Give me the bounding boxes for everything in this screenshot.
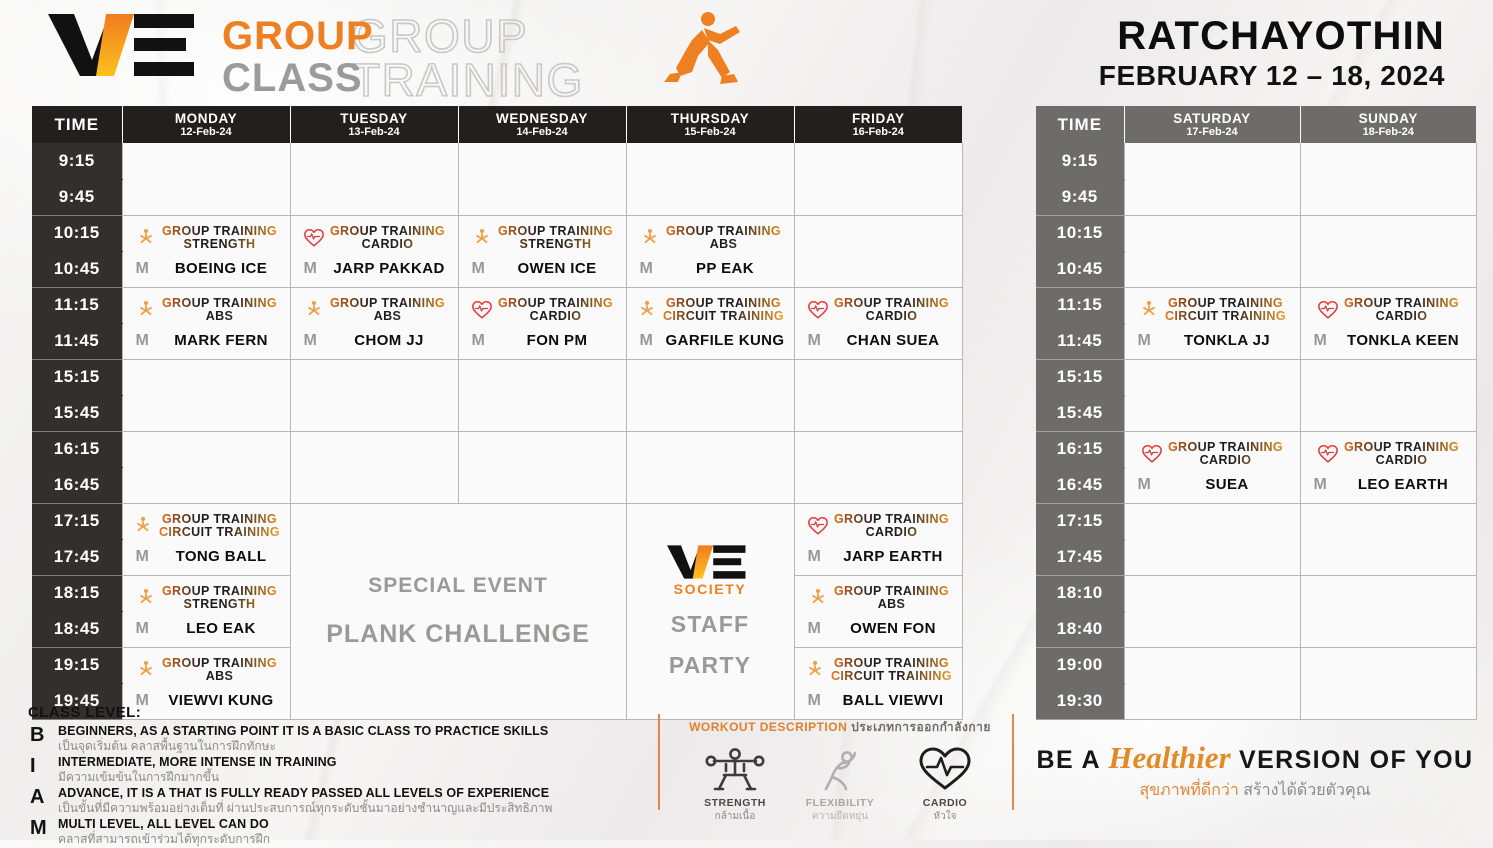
class-slot[interactable]: GROUP TRAININGABSMOWEN FON: [794, 575, 962, 647]
empty-slot: [122, 359, 290, 431]
time-end: 18:40: [1036, 611, 1124, 647]
time-start: 18:10: [1036, 575, 1124, 611]
class-instructors: OWEN ICE: [498, 260, 617, 277]
class-level-badge: M: [808, 620, 834, 638]
time-start: 10:15: [1036, 215, 1124, 251]
class-slot[interactable]: GROUP TRAININGCIRCUIT TRAININGMTONKLA JJ: [1124, 287, 1300, 359]
workout-label-th: กล้ามเนื้อ: [686, 809, 784, 824]
time-start: 16:15: [1036, 431, 1124, 467]
time-start: 11:15: [1036, 287, 1124, 323]
level-letter: I: [28, 755, 58, 777]
empty-slot: [794, 431, 962, 503]
tagline-block: BE A Healthier VERSION OF YOU สุขภาพที่ด…: [1030, 740, 1480, 803]
class-slot[interactable]: GROUP TRAININGCARDIOMSUEA: [1124, 431, 1300, 503]
weekend-schedule-table: TIME SATURDAY 17-Feb-24 SUNDAY 18-Feb-24…: [1036, 106, 1476, 720]
empty-slot: [794, 215, 962, 287]
schedule-row: 11:15GROUP TRAININGABSMMARK FERNGROUP TR…: [32, 287, 962, 323]
strength-figure-icon: [135, 299, 157, 321]
class-level-badge: M: [1138, 476, 1164, 494]
strength-figure-icon: [636, 299, 658, 321]
weekend-header-saturday: SATURDAY 17-Feb-24: [1124, 106, 1300, 143]
level-desc-th: มีความเข้มข้นในการฝึกมากขึ้น: [58, 770, 658, 785]
class-level-badge: M: [640, 260, 666, 278]
we-society-logo: [667, 544, 753, 580]
class-group-label: GROUP TRAINING: [330, 297, 445, 310]
empty-slot: [1124, 359, 1300, 431]
class-slot[interactable]: GROUP TRAININGCARDIOMTONKLA KEEN: [1300, 287, 1476, 359]
strength-figure-icon: [135, 659, 157, 681]
time-start: 19:00: [1036, 647, 1124, 683]
schedule-row: 17:15GROUP TRAININGCIRCUIT TRAININGMTONG…: [32, 503, 962, 539]
class-type-label: ABS: [666, 238, 781, 251]
strength-figure-icon: [807, 587, 829, 609]
class-group-label: GROUP TRAINING: [834, 513, 949, 526]
heart-pulse-icon: [896, 743, 994, 795]
strength-figure-icon: [804, 659, 826, 681]
class-slot[interactable]: GROUP TRAININGABSMCHOM JJ: [290, 287, 458, 359]
stretching-figure-icon: [791, 743, 889, 795]
class-instructors: BOEING ICE: [162, 260, 281, 277]
class-instructors: LEO EAK: [162, 620, 281, 637]
strength-figure-icon: [471, 227, 493, 249]
heart-pulse-icon: [303, 227, 325, 249]
strength-figure-icon: [135, 227, 157, 249]
schedule-row: 15:15: [1036, 359, 1476, 395]
day-name: SATURDAY: [1125, 111, 1300, 126]
heart-pulse-icon: [1317, 299, 1339, 321]
class-type-label: CIRCUIT TRAINING: [663, 310, 784, 323]
class-level-heading: CLASS LEVEL:: [28, 704, 658, 721]
special-event-cell[interactable]: SPECIAL EVENTPLANK CHALLENGE: [290, 503, 626, 719]
heart-pulse-icon: [1317, 443, 1339, 465]
workout-label-en: STRENGTH: [686, 797, 784, 809]
strength-figure-icon: [639, 227, 661, 249]
level-letter: B: [28, 724, 58, 746]
class-instructors: TONG BALL: [162, 548, 281, 565]
class-level-badge: M: [640, 332, 666, 350]
workout-label-th: หัวใจ: [896, 809, 994, 824]
strength-figure-icon: [1138, 299, 1160, 321]
empty-slot: [1300, 503, 1476, 575]
class-level-badge: M: [472, 332, 498, 350]
time-start: 15:15: [1036, 359, 1124, 395]
time-end: 15:45: [32, 395, 122, 431]
weekday-time-header: TIME: [32, 106, 122, 143]
page-header: GROUP TRAINING GROUP CLASS RATCHAYOTHIN …: [0, 0, 1493, 104]
heart-pulse-icon: [1317, 299, 1339, 321]
class-level-badge: M: [136, 332, 162, 350]
venue-block: RATCHAYOTHIN FEBRUARY 12 – 18, 2024: [1099, 14, 1445, 92]
class-instructors: OWEN FON: [834, 620, 953, 637]
workout-description: WORKOUT DESCRIPTION ประเภทการออกกำลังกาย: [680, 718, 1000, 824]
class-slot[interactable]: GROUP TRAININGSTRENGTHMOWEN ICE: [458, 215, 626, 287]
class-group-label: GROUP TRAINING: [831, 657, 952, 670]
heart-pulse-icon: [471, 299, 493, 321]
strength-figure-icon: [471, 227, 493, 249]
time-start: 17:15: [1036, 503, 1124, 539]
staff-party-line2: PARTY: [627, 652, 794, 679]
tagline-th-orange: สุขภาพที่ดีกว่า: [1139, 782, 1238, 799]
level-letter: M: [28, 817, 58, 839]
empty-slot: [1300, 575, 1476, 647]
class-instructors: JARP EARTH: [834, 548, 953, 565]
day-name: MONDAY: [123, 111, 290, 126]
class-type-label: STRENGTH: [162, 238, 277, 251]
class-type-label: ABS: [162, 670, 277, 683]
time-end: 16:45: [32, 467, 122, 503]
heart-pulse-icon: [807, 299, 829, 321]
empty-slot: [290, 431, 458, 503]
schedule-row: 10:15: [1036, 215, 1476, 251]
page-footer: CLASS LEVEL: B BEGINNERS, AS A STARTING …: [0, 700, 1493, 840]
workout-heading-en: WORKOUT DESCRIPTION: [689, 720, 847, 734]
strength-figure-icon: [1138, 299, 1160, 321]
day-name: TUESDAY: [291, 111, 458, 126]
time-start: 18:15: [32, 575, 122, 611]
class-slot[interactable]: GROUP TRAININGCARDIOMJARP EARTH: [794, 503, 962, 575]
time-start: 17:15: [32, 503, 122, 539]
time-end: 18:45: [32, 611, 122, 647]
class-type-label: STRENGTH: [498, 238, 613, 251]
weekend-body: 9:159:4510:1510:4511:15GROUP TRAININGCIR…: [1036, 143, 1476, 719]
class-slot[interactable]: GROUP TRAININGCARDIOMFON PM: [458, 287, 626, 359]
workout-label-en: FLEXIBILITY: [791, 797, 889, 809]
level-desc-th: เป็นขั้นที่มีความพร้อมอย่างเต็มที่ ผ่านป…: [58, 801, 658, 816]
strength-figure-icon: [135, 587, 157, 609]
class-level-badge: M: [1314, 476, 1340, 494]
strength-figure-icon: [303, 299, 325, 321]
heart-pulse-icon: [471, 299, 493, 321]
class-slot[interactable]: GROUP TRAININGCIRCUIT TRAININGMTONG BALL: [122, 503, 290, 575]
class-type-label: CARDIO: [1168, 454, 1283, 467]
level-desc-th: เป็นจุดเริ่มต้น คลาสพื้นฐานในการฝึกทักษะ: [58, 739, 658, 754]
class-instructors: GARFILE KUNG: [666, 332, 785, 349]
workout-heading-th: ประเภทการออกกำลังกาย: [851, 720, 991, 734]
time-end: 16:45: [1036, 467, 1124, 503]
time-start: 16:15: [32, 431, 122, 467]
class-type-label: CIRCUIT TRAINING: [831, 670, 952, 683]
venue-name: RATCHAYOTHIN: [1099, 14, 1445, 58]
workout-item-flexibility: FLEXIBILITY ความยืดหยุ่น: [791, 743, 889, 824]
empty-slot: [290, 359, 458, 431]
tagline-th: สุขภาพที่ดีกว่า สร้างได้ด้วยตัวคุณ: [1030, 778, 1480, 803]
runner-icon: [652, 10, 742, 84]
schedule-row: 18:10: [1036, 575, 1476, 611]
class-level-item-m: M MULTI LEVEL, ALL LEVEL CAN DO คลาสที่ส…: [28, 817, 658, 847]
weekday-body: 9:159:4510:15GROUP TRAININGSTRENGTHMBOEI…: [32, 143, 962, 719]
strength-figure-icon: [135, 299, 157, 321]
time-end: 17:45: [32, 539, 122, 575]
we-logo-mark: [48, 12, 208, 78]
day-date: 12-Feb-24: [123, 126, 290, 139]
day-name: SUNDAY: [1301, 111, 1477, 126]
group-class-title: GROUP CLASS: [222, 16, 374, 98]
day-name: WEDNESDAY: [459, 111, 626, 126]
empty-slot: [458, 143, 626, 215]
class-level-item-a: A ADVANCE, IT IS A THAT IS FULLY READY P…: [28, 786, 658, 816]
schedule-row: 9:15: [1036, 143, 1476, 179]
class-type-label: CARDIO: [1344, 310, 1459, 323]
schedule-row: 16:15GROUP TRAININGCARDIOMSUEAGROUP TRAI…: [1036, 431, 1476, 467]
weekday-header-row: TIME MONDAY 12-Feb-24 TUESDAY 13-Feb-24 …: [32, 106, 962, 143]
class-group-label: GROUP TRAINING: [498, 297, 613, 310]
we-logo: [48, 12, 208, 78]
class-instructors: CHOM JJ: [330, 332, 449, 349]
tagline-post: VERSION OF YOU: [1239, 746, 1473, 774]
empty-slot: [122, 143, 290, 215]
barbell-lift-icon: [686, 743, 784, 795]
watermark-line2: TRAINING: [352, 58, 584, 102]
group-word: GROUP: [222, 14, 374, 58]
heart-pulse-icon: [1317, 443, 1339, 465]
class-slot[interactable]: GROUP TRAININGCARDIOMCHAN SUEA: [794, 287, 962, 359]
strength-figure-icon: [639, 227, 661, 249]
weekday-header-monday: MONDAY 12-Feb-24: [122, 106, 290, 143]
empty-slot: [1124, 143, 1300, 215]
class-slot[interactable]: GROUP TRAININGCARDIOMJARP PAKKAD: [290, 215, 458, 287]
class-level-badge: M: [1138, 332, 1164, 350]
empty-slot: [458, 359, 626, 431]
class-word: CLASS: [222, 58, 374, 98]
class-level-badge: M: [136, 548, 162, 566]
workout-heading: WORKOUT DESCRIPTION ประเภทการออกกำลังกาย: [680, 718, 1000, 737]
class-level-badge: M: [472, 260, 498, 278]
society-label: SOCIETY: [627, 581, 794, 597]
class-level-badge: M: [1314, 332, 1340, 350]
heart-pulse-icon: [303, 227, 325, 249]
schedule-row: 9:15: [32, 143, 962, 179]
day-date: 16-Feb-24: [795, 126, 963, 139]
strength-figure-icon: [135, 587, 157, 609]
schedule-row: 11:15GROUP TRAININGCIRCUIT TRAININGMTONK…: [1036, 287, 1476, 323]
strength-figure-icon: [807, 587, 829, 609]
heart-pulse-icon: [807, 515, 829, 537]
time-end: 17:45: [1036, 539, 1124, 575]
class-type-label: CARDIO: [330, 238, 445, 251]
class-group-label: GROUP TRAINING: [162, 657, 277, 670]
class-group-label: GROUP TRAINING: [1344, 297, 1459, 310]
strength-figure-icon: [132, 515, 154, 537]
class-instructors: LEO EARTH: [1340, 476, 1467, 493]
day-date: 18-Feb-24: [1301, 126, 1477, 139]
class-type-label: ABS: [330, 310, 445, 323]
divider-right: [1012, 714, 1014, 810]
class-group-label: GROUP TRAINING: [666, 225, 781, 238]
schedule-row: 17:15: [1036, 503, 1476, 539]
staff-party-cell[interactable]: SOCIETYSTAFFPARTY: [626, 503, 794, 719]
weekend-table: TIME SATURDAY 17-Feb-24 SUNDAY 18-Feb-24…: [1036, 106, 1477, 720]
class-slot[interactable]: GROUP TRAININGCIRCUIT TRAININGMGARFILE K…: [626, 287, 794, 359]
class-instructors: MARK FERN: [162, 332, 281, 349]
heart-pulse-icon: [1141, 443, 1163, 465]
class-slot[interactable]: GROUP TRAININGABSMPP EAK: [626, 215, 794, 287]
special-event-label: SPECIAL EVENT: [291, 574, 626, 598]
workout-label-en: CARDIO: [896, 797, 994, 809]
tagline-pre: BE A: [1037, 746, 1100, 774]
weekday-schedule-table: TIME MONDAY 12-Feb-24 TUESDAY 13-Feb-24 …: [32, 106, 962, 720]
class-instructors: TONKLA KEEN: [1340, 332, 1467, 349]
empty-slot: [794, 143, 962, 215]
weekday-header-wednesday: WEDNESDAY 14-Feb-24: [458, 106, 626, 143]
workout-item-cardio: CARDIO หัวใจ: [896, 743, 994, 824]
class-slot[interactable]: GROUP TRAININGSTRENGTHMLEO EAK: [122, 575, 290, 647]
heart-pulse-icon: [807, 299, 829, 321]
time-start: 9:15: [1036, 143, 1124, 179]
time-start: 10:15: [32, 215, 122, 251]
class-group-label: GROUP TRAINING: [1165, 297, 1286, 310]
staff-party-line1: STAFF: [627, 611, 794, 638]
class-level-badge: M: [136, 260, 162, 278]
level-desc-en: ADVANCE, IT IS A THAT IS FULLY READY PAS…: [58, 786, 658, 801]
class-type-label: CIRCUIT TRAINING: [159, 526, 280, 539]
workout-item-strength: STRENGTH กล้ามเนื้อ: [686, 743, 784, 824]
empty-slot: [1124, 503, 1300, 575]
day-name: FRIDAY: [795, 111, 963, 126]
class-slot[interactable]: GROUP TRAININGCARDIOMLEO EARTH: [1300, 431, 1476, 503]
level-desc-en: INTERMEDIATE, MORE INTENSE IN TRAINING: [58, 755, 658, 770]
class-level-item-b: B BEGINNERS, AS A STARTING POINT IT IS A…: [28, 724, 658, 754]
time-start: 11:15: [32, 287, 122, 323]
weekday-table: TIME MONDAY 12-Feb-24 TUESDAY 13-Feb-24 …: [32, 106, 963, 720]
class-level-badge: M: [304, 332, 330, 350]
empty-slot: [626, 431, 794, 503]
class-type-label: STRENGTH: [162, 598, 277, 611]
empty-slot: [626, 143, 794, 215]
class-instructors: JARP PAKKAD: [330, 260, 449, 277]
heart-pulse-icon: [807, 515, 829, 537]
time-end: 9:45: [32, 179, 122, 215]
strength-figure-icon: [135, 659, 157, 681]
weekday-header-tuesday: TUESDAY 13-Feb-24: [290, 106, 458, 143]
class-group-label: GROUP TRAINING: [663, 297, 784, 310]
class-type-label: CARDIO: [834, 310, 949, 323]
empty-slot: [794, 359, 962, 431]
time-start: 9:15: [32, 143, 122, 179]
class-group-label: GROUP TRAINING: [834, 297, 949, 310]
time-end: 11:45: [1036, 323, 1124, 359]
time-end: 10:45: [1036, 251, 1124, 287]
class-group-label: GROUP TRAINING: [834, 585, 949, 598]
class-level-badge: M: [808, 548, 834, 566]
day-date: 13-Feb-24: [291, 126, 458, 139]
class-group-label: GROUP TRAINING: [498, 225, 613, 238]
time-end: 9:45: [1036, 179, 1124, 215]
class-type-label: CARDIO: [1344, 454, 1459, 467]
special-event-name: PLANK CHALLENGE: [291, 620, 626, 649]
time-end: 15:45: [1036, 395, 1124, 431]
time-start: 15:15: [32, 359, 122, 395]
class-group-label: GROUP TRAINING: [159, 513, 280, 526]
class-type-label: CIRCUIT TRAINING: [1165, 310, 1286, 323]
empty-slot: [1300, 143, 1476, 215]
class-group-label: GROUP TRAINING: [162, 585, 277, 598]
level-desc-en: MULTI LEVEL, ALL LEVEL CAN DO: [58, 817, 658, 832]
watermark-text: GROUP TRAINING: [352, 14, 584, 102]
workout-label-th: ความยืดหยุ่น: [791, 809, 889, 824]
class-level-badge: M: [304, 260, 330, 278]
empty-slot: [1300, 215, 1476, 287]
class-level-badge: M: [136, 620, 162, 638]
tagline-th-gray: สร้างได้ด้วยตัวคุณ: [1243, 782, 1370, 799]
empty-slot: [458, 431, 626, 503]
class-slot[interactable]: GROUP TRAININGSTRENGTHMBOEING ICE: [122, 215, 290, 287]
class-level-legend: CLASS LEVEL: B BEGINNERS, AS A STARTING …: [28, 704, 658, 848]
class-instructors: FON PM: [498, 332, 617, 349]
schedule-row: 16:15: [32, 431, 962, 467]
class-type-label: CARDIO: [498, 310, 613, 323]
day-date: 15-Feb-24: [627, 126, 794, 139]
schedule-row: 15:15: [32, 359, 962, 395]
class-slot[interactable]: GROUP TRAININGABSMMARK FERN: [122, 287, 290, 359]
tagline-script: Healthier: [1108, 740, 1230, 775]
weekend-header-sunday: SUNDAY 18-Feb-24: [1300, 106, 1476, 143]
empty-slot: [290, 143, 458, 215]
venue-dates: FEBRUARY 12 – 18, 2024: [1099, 60, 1445, 92]
empty-slot: [1124, 215, 1300, 287]
strength-figure-icon: [804, 659, 826, 681]
class-instructors: SUEA: [1164, 476, 1291, 493]
class-instructors: TONKLA JJ: [1164, 332, 1291, 349]
empty-slot: [122, 431, 290, 503]
class-instructors: CHAN SUEA: [834, 332, 953, 349]
strength-figure-icon: [303, 299, 325, 321]
tagline-en: BE A Healthier VERSION OF YOU: [1030, 740, 1480, 776]
watermark-line1: GROUP: [352, 14, 584, 58]
weekday-header-friday: FRIDAY 16-Feb-24: [794, 106, 962, 143]
class-group-label: GROUP TRAINING: [162, 297, 277, 310]
time-end: 10:45: [32, 251, 122, 287]
class-instructors: PP EAK: [666, 260, 785, 277]
heart-pulse-icon: [1141, 443, 1163, 465]
time-start: 19:15: [32, 647, 122, 683]
class-type-label: ABS: [162, 310, 277, 323]
class-level-badge: M: [808, 332, 834, 350]
class-group-label: GROUP TRAINING: [330, 225, 445, 238]
weekday-header-thursday: THURSDAY 15-Feb-24: [626, 106, 794, 143]
class-group-label: GROUP TRAINING: [1344, 441, 1459, 454]
time-end: 11:45: [32, 323, 122, 359]
class-level-item-i: I INTERMEDIATE, MORE INTENSE IN TRAINING…: [28, 755, 658, 785]
day-name: THURSDAY: [627, 111, 794, 126]
class-group-label: GROUP TRAINING: [162, 225, 277, 238]
empty-slot: [1300, 359, 1476, 431]
strength-figure-icon: [135, 227, 157, 249]
level-desc-en: BEGINNERS, AS A STARTING POINT IT IS A B…: [58, 724, 658, 739]
schedule-row: 10:15GROUP TRAININGSTRENGTHMBOEING ICEGR…: [32, 215, 962, 251]
empty-slot: [626, 359, 794, 431]
class-type-label: CARDIO: [834, 526, 949, 539]
schedule-row: 19:00: [1036, 647, 1476, 683]
level-letter: A: [28, 786, 58, 808]
divider-left: [658, 714, 660, 810]
weekend-time-header: TIME: [1036, 106, 1124, 143]
strength-figure-icon: [636, 299, 658, 321]
empty-slot: [1124, 575, 1300, 647]
class-type-label: ABS: [834, 598, 949, 611]
strength-figure-icon: [132, 515, 154, 537]
weekend-header-row: TIME SATURDAY 17-Feb-24 SUNDAY 18-Feb-24: [1036, 106, 1476, 143]
class-group-label: GROUP TRAINING: [1168, 441, 1283, 454]
day-date: 14-Feb-24: [459, 126, 626, 139]
day-date: 17-Feb-24: [1125, 126, 1300, 139]
